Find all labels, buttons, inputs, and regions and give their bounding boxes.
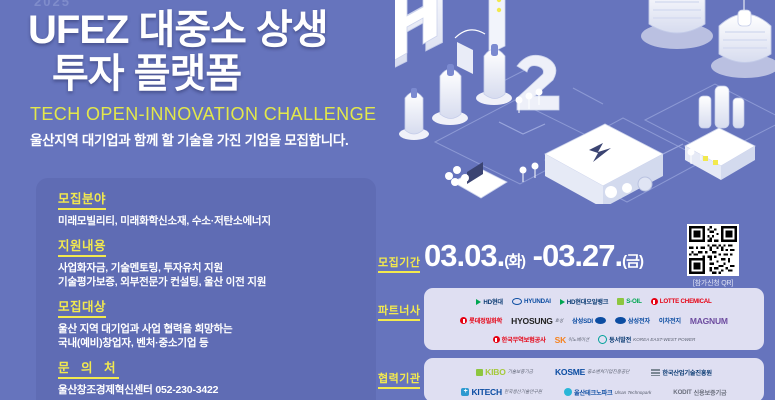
partner-row-1: HD현대 HYUNDAI HD현대오일뱅크 S-OIL LOTTE CHEMIC…: [430, 292, 758, 311]
cooperation-row-2: KITECH한국생산기술연구원 울산테크노파크Ulsan Technopark …: [430, 382, 758, 400]
circle-teal-icon: [598, 335, 607, 344]
partner-logo-lotte-chemical: LOTTE CHEMICAL: [651, 298, 712, 305]
recruitment-period-row: 모집기간 03.03.(화) -03.27.(금): [378, 236, 775, 288]
recruitment-period-value: 03.03.(화) -03.27.(금): [424, 238, 643, 274]
info-heading: 모집분야: [58, 188, 106, 210]
info-panel: 모집분야 미래모빌리티, 미래화학신소재, 수소·저탄소에너지 지원내용 사업화…: [36, 178, 376, 400]
subtitle-english: TECH OPEN-INNOVATION CHALLENGE: [30, 104, 408, 125]
partner-row-2: 롯데정밀화학 HYOSUNG효성 삼성SDI 삼성전자 이차전지 MAGNUM: [430, 311, 758, 330]
j-circle-icon: [564, 388, 572, 396]
coop-logo-kodit: KODIT신용보증기금: [673, 388, 726, 397]
lotte-circle-icon: [493, 336, 500, 343]
partner-logo-s-oil: S-OIL: [617, 298, 642, 305]
info-line: 기술평가보증, 외부전문가 컨설팅, 울산 이전 지원: [58, 275, 376, 289]
info-heading: 모집대상: [58, 296, 106, 318]
info-line: 울산 지역 대기업과 사업 협력을 희망하는: [58, 322, 376, 336]
partner-logo-secondary-battery: 이차전지: [659, 316, 681, 325]
contact-phone-line: 울산창조경제혁신센터 052-230-3422: [58, 383, 376, 397]
coop-logo-kibo: KIBO기술보증기금: [476, 367, 533, 377]
hydrogen-industry-isometric-illustration: [395, 0, 775, 204]
recruitment-period-label: 모집기간: [378, 254, 420, 273]
page-title-line2: 투자 플랫폼: [52, 52, 408, 96]
cooperation-panel: KIBO기술보증기금 KOSME중소벤처기업진흥공단 한국산업기술진흥원 KIT…: [424, 358, 764, 400]
partner-logo-lotte-fine-chemical: 롯데정밀화학: [460, 316, 502, 325]
info-block-contact: 문 의 처 울산창조경제혁신센터 052-230-3422: [58, 357, 376, 397]
poster-root: 2025 UFEZ 대중소 상생 투자 플랫폼 TECH OPEN-INNOVA…: [0, 0, 775, 400]
qr-code-icon[interactable]: [687, 224, 739, 276]
triangle-green-icon: [560, 299, 565, 305]
info-block-target-audience: 모집대상 울산 지역 대기업과 사업 협력을 희망하는 국내(예비)창업자, 벤…: [58, 296, 376, 350]
info-heading: 문 의 처: [58, 357, 119, 379]
partner-logo-sk: SK이노베이션: [555, 335, 590, 345]
coop-logo-kosme: KOSME중소벤처기업진흥공단: [555, 367, 629, 377]
partner-logo-samsung-electronics: 삼성전자: [615, 316, 650, 325]
info-block-support-content: 지원내용 사업화자금, 기술멘토링, 투자유치 지원 기술평가보증, 외부전문가…: [58, 235, 376, 289]
end-date: 03.27.: [542, 238, 622, 273]
partner-logo-magnum: MAGNUM: [690, 316, 728, 326]
partner-logo-hd-hyundai-oilbank: HD현대오일뱅크: [560, 297, 609, 306]
gray-bars-icon: [651, 369, 660, 376]
square-green-icon: [476, 369, 483, 376]
title-block: 2025 UFEZ 대중소 상생 투자 플랫폼 TECH OPEN-INNOVA…: [28, 0, 408, 149]
partner-logo-samsung-sdi: 삼성SDI: [572, 316, 606, 325]
date-separator: -: [533, 238, 542, 273]
info-block-recruitment-field: 모집분야 미래모빌리티, 미래화학신소재, 수소·저탄소에너지: [58, 188, 376, 228]
cooperation-row-1: KIBO기술보증기금 KOSME중소벤처기업진흥공단 한국산업기술진흥원: [430, 362, 758, 382]
partners-label: 파트너사: [378, 302, 420, 321]
partner-logo-east-west-power: 동서발전KOREA EAST-WEST POWER: [598, 335, 695, 344]
coop-logo-kitech: KITECH한국생산기술연구원: [461, 387, 542, 397]
page-title-line1: UFEZ 대중소 상생: [28, 8, 408, 52]
info-line: 사업화자금, 기술멘토링, 투자유치 지원: [58, 261, 376, 275]
poster-year: 2025: [34, 0, 408, 8]
plus-blue-icon: [461, 388, 469, 396]
qr-caption: [참가신청 QR]: [678, 278, 748, 288]
qr-block[interactable]: [참가신청 QR]: [678, 224, 748, 288]
start-day: (화): [504, 253, 525, 270]
partner-logo-k-sure: 한국무역보험공사: [493, 335, 546, 344]
coop-logo-kiat: 한국산업기술진흥원: [651, 368, 711, 377]
info-line: 국내(예비)창업자, 벤처·중소기업 등: [58, 336, 376, 350]
start-date: 03.03.: [424, 238, 504, 273]
hyundai-oval-icon: [512, 298, 522, 305]
partner-logo-hyosung: HYOSUNG효성: [511, 316, 563, 326]
partner-logo-hyundai: HYUNDAI: [512, 298, 551, 305]
info-heading: 지원내용: [58, 235, 106, 257]
partner-row-3: 한국무역보험공사 SK이노베이션 동서발전KOREA EAST-WEST POW…: [430, 330, 758, 349]
cooperation-label: 협력기관: [378, 370, 420, 389]
end-day: (금): [622, 253, 643, 270]
lotte-circle-icon: [651, 298, 658, 305]
partners-panel: HD현대 HYUNDAI HD현대오일뱅크 S-OIL LOTTE CHEMIC…: [424, 288, 764, 350]
samsung-oval-icon: [615, 317, 626, 324]
info-line: 미래모빌리티, 미래화학신소재, 수소·저탄소에너지: [58, 214, 376, 228]
partner-logo-hd-hyundai: HD현대: [476, 297, 503, 306]
subtitle-korean: 울산지역 대기업과 함께 할 기술을 가진 기업을 모집합니다.: [30, 129, 408, 149]
triangle-green-icon: [476, 299, 481, 305]
right-column: 모집기간 03.03.(화) -03.27.(금): [378, 236, 775, 400]
lotte-circle-icon: [460, 317, 467, 324]
samsung-oval-icon: [595, 317, 606, 324]
square-green-icon: [617, 298, 624, 305]
coop-logo-ulsan-technopark: 울산테크노파크Ulsan Technopark: [564, 388, 651, 397]
